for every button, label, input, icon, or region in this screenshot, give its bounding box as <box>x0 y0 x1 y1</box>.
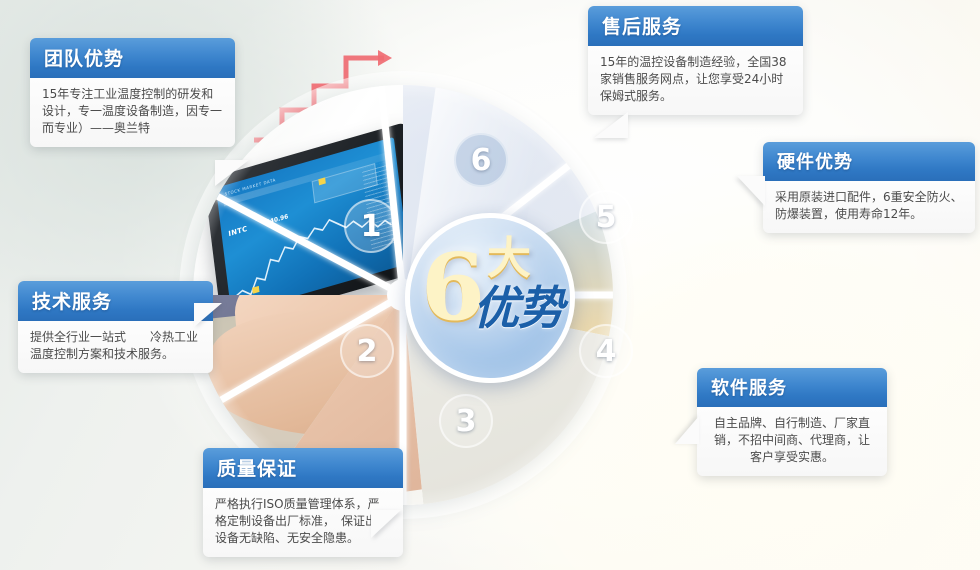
card-technical[interactable]: 技术服务 提供全行业一站式 冷热工业温度控制方案和技术服务。 <box>18 281 213 373</box>
card-team-pointer <box>215 160 249 186</box>
infographic-canvas: STOCK MARKET DATA INTC 440.96 <box>0 0 980 570</box>
segment-number-1[interactable]: 1 <box>344 199 398 253</box>
card-software[interactable]: 软件服务 自主品牌、自行制造、厂家直销，不招中间商、代理商，让客户享受实惠。 <box>697 368 887 476</box>
card-hardware[interactable]: 硬件优势 采用原装进口配件，6重安全防火、防爆装置，使用寿命12年。 <box>763 142 975 233</box>
segment-number-5[interactable]: 5 <box>579 190 633 244</box>
center-badge-inner: 6 大 优势 <box>415 223 565 373</box>
card-quality[interactable]: 质量保证 严格执行ISO质量管理体系，严格定制设备出厂标准， 保证出厂设备无缺陷… <box>203 448 403 557</box>
card-team[interactable]: 团队优势 15年专注工业温度控制的研发和设计，专一温度设备制造，因专一而专业）—… <box>30 38 235 147</box>
card-after-sales[interactable]: 售后服务 15年的温控设备制造经验，全国38家销售服务网点，让您享受24小时保姆… <box>588 6 803 115</box>
card-after-sales-body: 15年的温控设备制造经验，全国38家销售服务网点，让您享受24小时保姆式服务。 <box>588 46 803 115</box>
segment-number-2[interactable]: 2 <box>340 324 394 378</box>
card-software-pointer <box>675 416 699 444</box>
card-team-body: 15年专注工业温度控制的研发和设计，专一温度设备制造，因专一而专业）——奥兰特 <box>30 78 235 147</box>
badge-unit: 大 <box>487 237 531 281</box>
card-software-title: 软件服务 <box>697 368 887 407</box>
segment-number-3[interactable]: 3 <box>439 394 493 448</box>
card-software-body: 自主品牌、自行制造、厂家直销，不招中间商、代理商，让客户享受实惠。 <box>697 407 887 476</box>
card-hardware-pointer <box>737 176 765 206</box>
card-after-sales-pointer <box>594 112 628 138</box>
card-after-sales-title: 售后服务 <box>588 6 803 46</box>
card-technical-pointer <box>194 303 222 327</box>
center-badge: 6 大 优势 <box>405 213 575 383</box>
card-technical-title: 技术服务 <box>18 281 213 321</box>
segment-number-4[interactable]: 4 <box>579 324 633 378</box>
badge-label: 优势 <box>473 285 563 331</box>
card-technical-body: 提供全行业一站式 冷热工业温度控制方案和技术服务。 <box>18 321 213 373</box>
segment-number-6[interactable]: 6 <box>454 133 508 187</box>
card-quality-pointer <box>371 510 401 538</box>
card-hardware-body: 采用原装进口配件，6重安全防火、防爆装置，使用寿命12年。 <box>763 181 975 233</box>
card-team-title: 团队优势 <box>30 38 235 78</box>
card-hardware-title: 硬件优势 <box>763 142 975 181</box>
card-quality-title: 质量保证 <box>203 448 403 488</box>
